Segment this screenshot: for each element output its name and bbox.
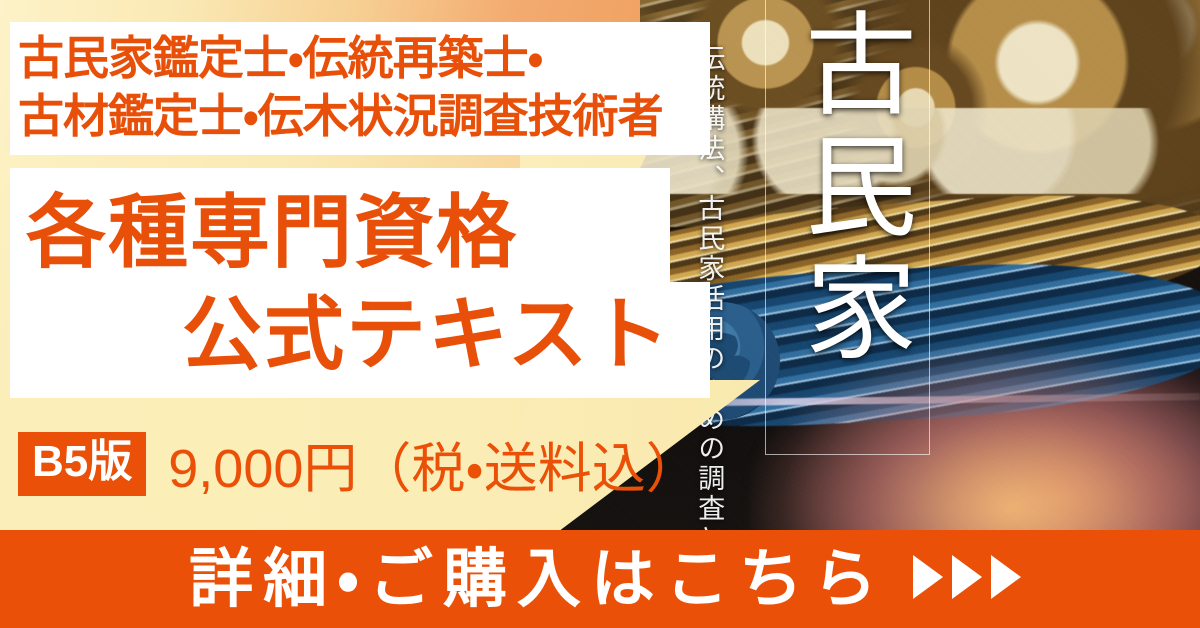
size-badge: B5版 bbox=[18, 432, 146, 496]
main-title: 各種専門資格 公式テキスト bbox=[18, 182, 708, 387]
chevron-right-icon bbox=[991, 555, 1021, 599]
cta-arrows bbox=[913, 555, 1021, 603]
cover-title: 古民家 bbox=[782, 6, 912, 372]
main-title-line-1: 各種専門資格 bbox=[18, 182, 708, 284]
cta-bar[interactable]: 詳細・ご購入はこちら bbox=[0, 530, 1200, 628]
main-title-line-2: 公式テキスト bbox=[18, 284, 708, 386]
promo-banner: 古民家 伝統構法、古民家活用のための調査と再生の 古民家鑑定士・伝統再築士・ 古… bbox=[0, 0, 1200, 628]
headline-line-1: 古民家鑑定士・伝統再築士・ bbox=[18, 30, 718, 88]
cta-label: 詳細・ご購入はこちら bbox=[179, 547, 887, 611]
headline: 古民家鑑定士・伝統再築士・ 古材鑑定士・伝木状況調査技術者 bbox=[18, 30, 718, 146]
price-amount: 9,000円（税・送料込） bbox=[168, 424, 700, 503]
chevron-right-icon bbox=[952, 555, 982, 599]
headline-line-2: 古材鑑定士・伝木状況調査技術者 bbox=[18, 88, 718, 146]
chevron-right-icon bbox=[913, 555, 943, 599]
price-row: B5版 9,000円（税・送料込） bbox=[18, 424, 700, 503]
